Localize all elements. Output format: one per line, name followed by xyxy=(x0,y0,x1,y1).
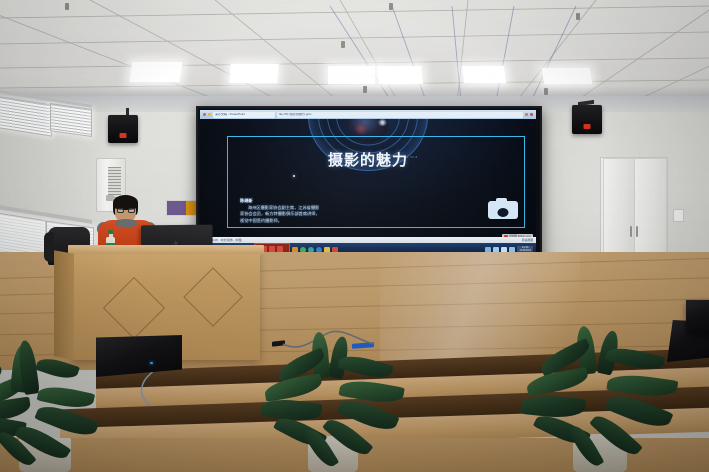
lens-red-flare xyxy=(354,123,368,135)
speaker-brand-logo xyxy=(120,133,127,138)
presenter-collar xyxy=(115,219,137,227)
plant-leaf xyxy=(525,367,589,396)
speaker-brand-logo xyxy=(584,124,591,129)
presenter-glasses-icon xyxy=(117,208,135,213)
presentation-slide: 24-70mm f/2.8 摄影的魅力 陈继新 海州区摄影家协会副主席，江苏省摄… xyxy=(200,119,536,243)
ceiling-light-panel xyxy=(462,66,506,83)
bottle-cap xyxy=(108,230,113,234)
slide-presenter-bio: 陈继新 海州区摄影家协会副主席，江苏省摄影 家协会会员，新方特摄影俱乐部首席讲师… xyxy=(240,198,390,224)
lens-highlight xyxy=(378,119,387,126)
slide-bio-line-2: 家协会会员，新方特摄影俱乐部首席讲师， xyxy=(240,211,320,216)
podium-diamond-inlay xyxy=(103,277,165,339)
window-restore-icon[interactable] xyxy=(525,113,528,116)
browser-tab[interactable]: 演示文稿 - PowerPoint xyxy=(213,112,275,118)
door-handle[interactable] xyxy=(630,226,632,237)
led-display-wall: 演示文稿 - PowerPoint file:///D:/摄影的魅力.pptx xyxy=(196,106,542,262)
plant-leaf xyxy=(263,373,323,402)
potted-plant-left xyxy=(0,338,110,472)
potted-plant-right xyxy=(520,326,680,472)
window-blinds xyxy=(0,97,51,136)
window-minimize-icon[interactable] xyxy=(208,113,211,116)
window-close-icon[interactable] xyxy=(203,113,206,116)
glasses-lens-left xyxy=(117,208,124,213)
plant-leaf xyxy=(520,393,586,421)
slide-bio-line-3: 视觉中国签约摄影师。 xyxy=(240,218,282,223)
view-mode-indicator: 阅读视图 xyxy=(522,239,533,242)
browser-tab-title: 演示文稿 - PowerPoint xyxy=(215,113,245,116)
glasses-lens-right xyxy=(128,208,135,213)
wall-speaker-left xyxy=(108,115,138,143)
browser-address-bar[interactable]: file:///D:/摄影的魅力.pptx xyxy=(277,112,523,118)
plant-leaf xyxy=(35,354,80,382)
sprinkler-icon xyxy=(65,3,69,10)
podium-diamond-inlay xyxy=(183,267,242,326)
wall-speaker-right xyxy=(572,105,602,134)
potted-plant-center xyxy=(258,330,408,472)
podium-top-surface xyxy=(68,245,264,254)
sprinkler-icon xyxy=(341,41,345,48)
ceiling-light-panel xyxy=(377,66,422,84)
window-maximize-icon[interactable] xyxy=(530,113,533,116)
ceiling-light-panel xyxy=(229,64,278,83)
floor-monitor-speaker-far-right xyxy=(686,300,709,334)
lecture-hall-photo: 演示文稿 - PowerPoint file:///D:/摄影的魅力.pptx xyxy=(0,0,709,472)
sprinkler-icon xyxy=(576,13,580,20)
browser-title-bar: 演示文稿 - PowerPoint file:///D:/摄影的魅力.pptx xyxy=(200,110,536,119)
speaker-power-led xyxy=(150,362,153,364)
wall-plaque xyxy=(166,200,198,216)
office-chair-wing xyxy=(44,232,54,262)
slide-presenter-name: 陈继新 xyxy=(240,198,253,203)
ceiling-light-panel xyxy=(328,66,375,84)
plant-leaf xyxy=(337,351,394,382)
language-indicator: 中文(简体，中国) xyxy=(221,239,242,242)
sprinkler-icon xyxy=(389,3,393,10)
plaque-left-panel xyxy=(167,201,186,215)
camera-icon-lens xyxy=(497,207,510,218)
plant-leaf xyxy=(605,343,665,374)
slide-title: 摄影的魅力 xyxy=(200,153,536,168)
display-screen: 演示文稿 - PowerPoint file:///D:/摄影的魅力.pptx xyxy=(200,110,536,256)
ceiling-light-panel xyxy=(130,62,183,82)
wall-light-switch[interactable] xyxy=(673,209,684,222)
camera-icon xyxy=(488,198,518,219)
bottle-neck xyxy=(109,234,113,238)
mouse-cursor xyxy=(293,175,295,177)
browser-address-text: file:///D:/摄影的魅力.pptx xyxy=(279,113,312,116)
ceiling-light-panel xyxy=(542,68,593,84)
window-upper-left-2 xyxy=(50,103,92,137)
door-handle[interactable] xyxy=(636,226,638,237)
window-blinds xyxy=(51,104,91,136)
